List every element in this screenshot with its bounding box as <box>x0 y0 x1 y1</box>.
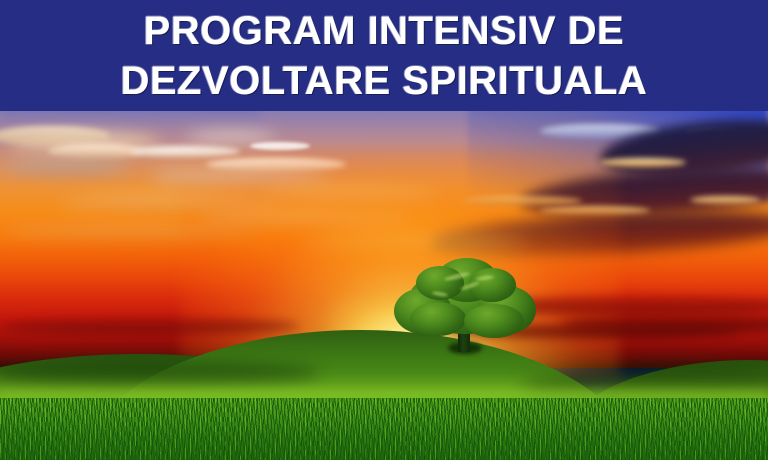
tree-canopy-lower-right <box>464 304 524 338</box>
banner-title-line-1: PROGRAM INTENSIV DE <box>144 7 625 55</box>
poster-image: PROGRAM INTENSIV DE DEZVOLTARE SPIRITUAL… <box>0 0 768 460</box>
banner-title-line-2: DEZVOLTARE SPIRITUALA <box>121 57 648 105</box>
lit-cloud-edge-2 <box>690 196 760 204</box>
lone-tree <box>392 258 538 354</box>
tree-canopy-lower-left <box>410 302 466 336</box>
cloud-upper-center-2 <box>186 132 276 142</box>
grass-foreground <box>0 398 768 460</box>
cloud-upper-left-4 <box>0 158 130 174</box>
cloud-upper-center-5 <box>250 142 310 150</box>
title-banner: PROGRAM INTENSIV DE DEZVOLTARE SPIRITUAL… <box>0 0 768 111</box>
